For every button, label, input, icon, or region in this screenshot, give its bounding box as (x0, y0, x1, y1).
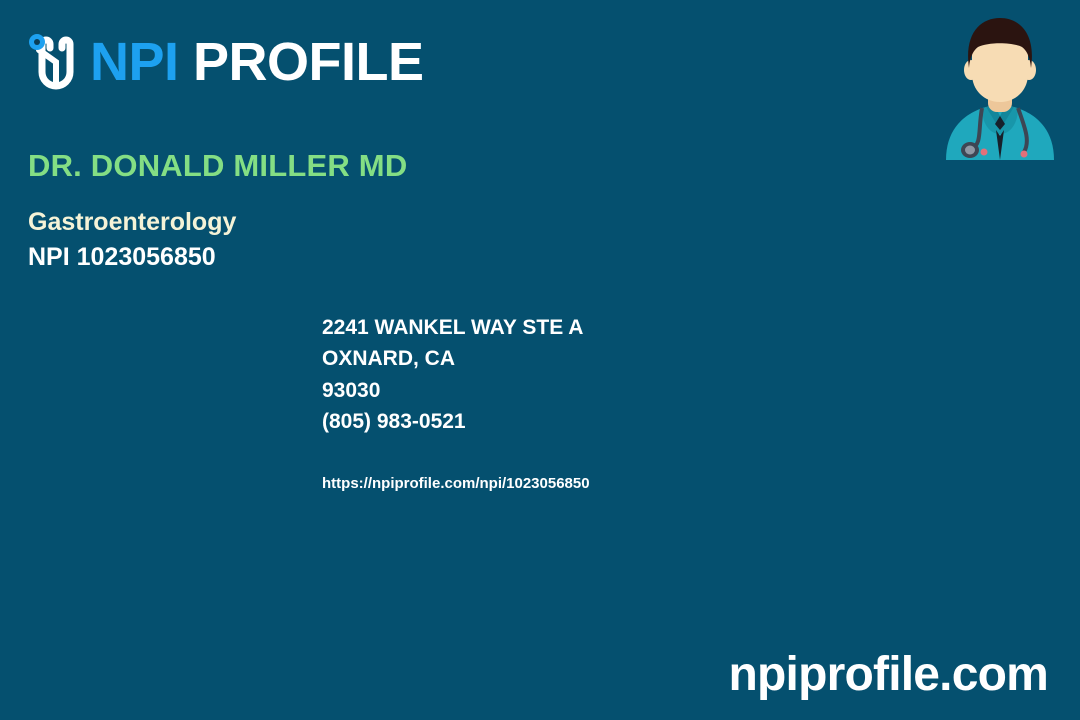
npi-profile-card: NPI PROFILE DR. DONALD MILLER MD Gastroe… (0, 0, 1080, 720)
provider-specialty: Gastroenterology (28, 207, 688, 238)
address-street: 2241 WANKEL WAY STE A (322, 312, 922, 343)
provider-npi-number: NPI 1023056850 (28, 242, 688, 273)
brand-name-profile: PROFILE (179, 32, 424, 92)
footer-site-brand: npiprofile.com (729, 649, 1048, 702)
profile-url[interactable]: https://npiprofile.com/npi/1023056850 (322, 474, 590, 494)
brand-name-npi: NPI (90, 32, 179, 92)
stethoscope-icon (28, 26, 86, 98)
address-city-state: OXNARD, CA (322, 343, 922, 374)
doctor-avatar-icon (938, 12, 1062, 160)
brand-header: NPI PROFILE (28, 26, 424, 98)
brand-wordmark: NPI PROFILE (90, 35, 424, 89)
provider-identity-block: DR. DONALD MILLER MD Gastroenterology NP… (28, 148, 688, 273)
practice-address-block: 2241 WANKEL WAY STE A OXNARD, CA 93030 (… (322, 312, 922, 437)
address-zip: 93030 (322, 375, 922, 406)
address-phone: (805) 983-0521 (322, 406, 922, 437)
provider-name: DR. DONALD MILLER MD (28, 148, 688, 185)
